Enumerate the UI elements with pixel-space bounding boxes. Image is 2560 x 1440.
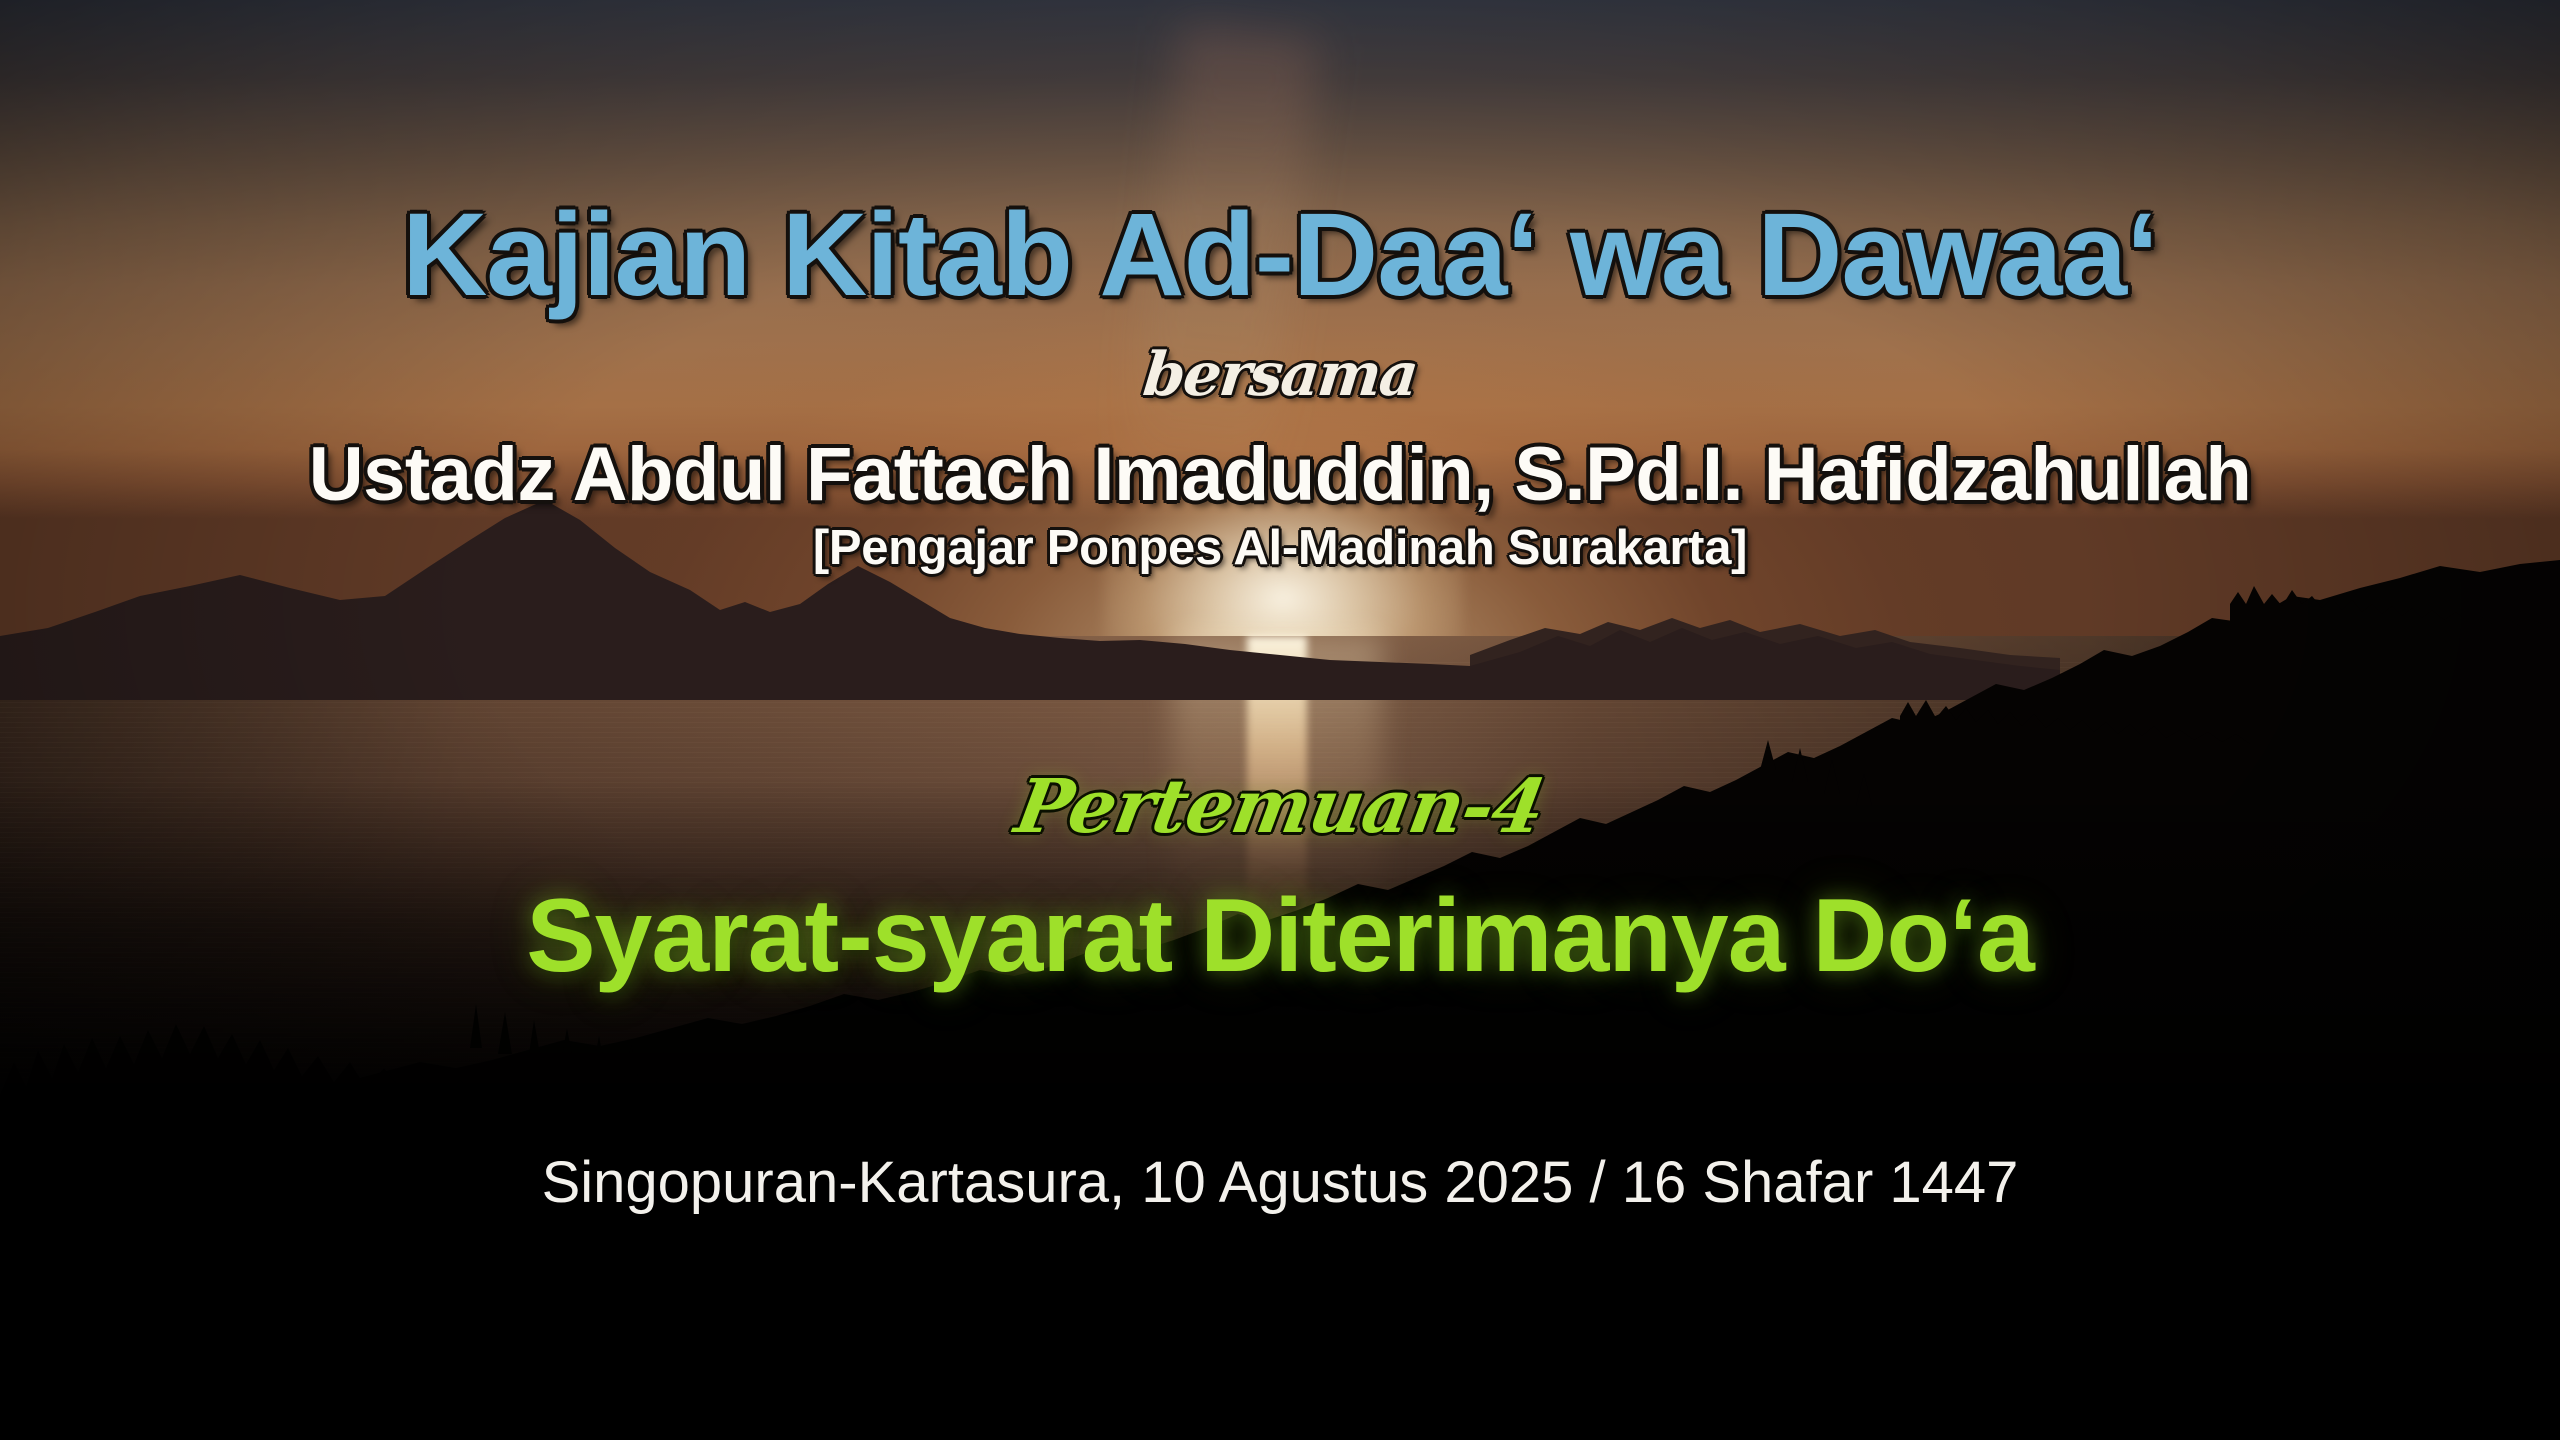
with-label: bersama: [0, 345, 2560, 405]
session-label: Pertemuan-4: [0, 770, 2560, 844]
speaker-affiliation: [Pengajar Ponpes Al-Madinah Surakarta]: [0, 524, 2560, 573]
poster-text-overlay: Kajian Kitab Ad-Daa‘ wa Dawaa‘ bersama U…: [0, 0, 2560, 1440]
place-and-date: Singopuran-Kartasura, 10 Agustus 2025 / …: [0, 1154, 2560, 1212]
topic-title: Syarat-syarat Diterimanya Do‘a: [0, 884, 2560, 988]
speaker-name: Ustadz Abdul Fattach Imaduddin, S.Pd.I. …: [0, 437, 2560, 513]
poster-title: Kajian Kitab Ad-Daa‘ wa Dawaa‘: [0, 196, 2560, 314]
kajian-poster: Kajian Kitab Ad-Daa‘ wa Dawaa‘ bersama U…: [0, 0, 2560, 1440]
